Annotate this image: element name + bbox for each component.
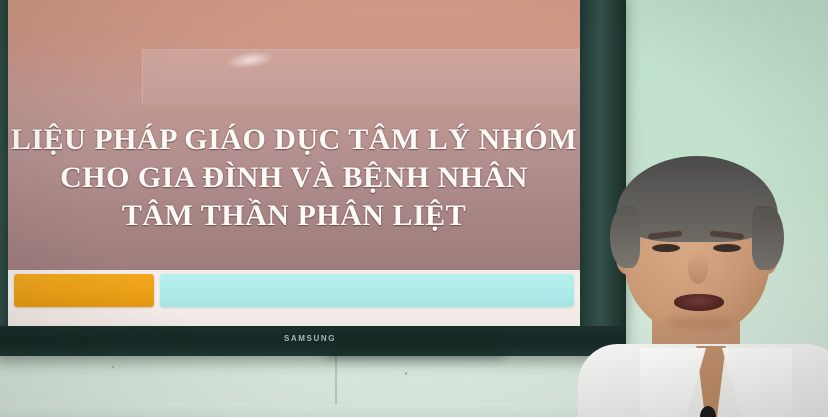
slide-title: LIỆU PHÁP GIÁO DỤC TÂM LÝ NHÓM CHO GIA Đ… (8, 125, 580, 231)
presenter-eye-right (713, 244, 741, 252)
presenter-chin-shadow (666, 316, 732, 330)
presenter-nose (688, 252, 708, 284)
tv-screen: LIỆU PHÁP GIÁO DỤC TÂM LÝ NHÓM CHO GIA Đ… (8, 0, 580, 326)
slide-cyan-bar (160, 274, 574, 307)
tv-stand-shadow (324, 346, 504, 358)
presenter-hair-right (752, 206, 784, 270)
slide-title-line-3: TÂM THẦN PHÂN LIỆT (8, 201, 580, 231)
video-frame: LIỆU PHÁP GIÁO DỤC TÂM LÝ NHÓM CHO GIA Đ… (0, 0, 828, 417)
presenter-mouth (674, 294, 724, 311)
slide-title-line-2: CHO GIA ĐÌNH VÀ BỆNH NHÂN (8, 163, 580, 193)
presenter (596, 148, 828, 417)
slide-orange-bar (14, 274, 154, 307)
presenter-hair-left (610, 206, 640, 268)
wall-speck (112, 366, 114, 368)
television: LIỆU PHÁP GIÁO DỤC TÂM LÝ NHÓM CHO GIA Đ… (0, 0, 626, 356)
slide-title-line-1: LIỆU PHÁP GIÁO DỤC TÂM LÝ NHÓM (8, 125, 580, 155)
presenter-eye-left (652, 244, 680, 252)
slide-footer-bars (8, 274, 580, 316)
wall-speck (405, 372, 407, 375)
slide-header-panel (142, 49, 580, 105)
samsung-logo: SAMSUNG (0, 334, 626, 343)
tv-bezel-left (0, 0, 8, 356)
